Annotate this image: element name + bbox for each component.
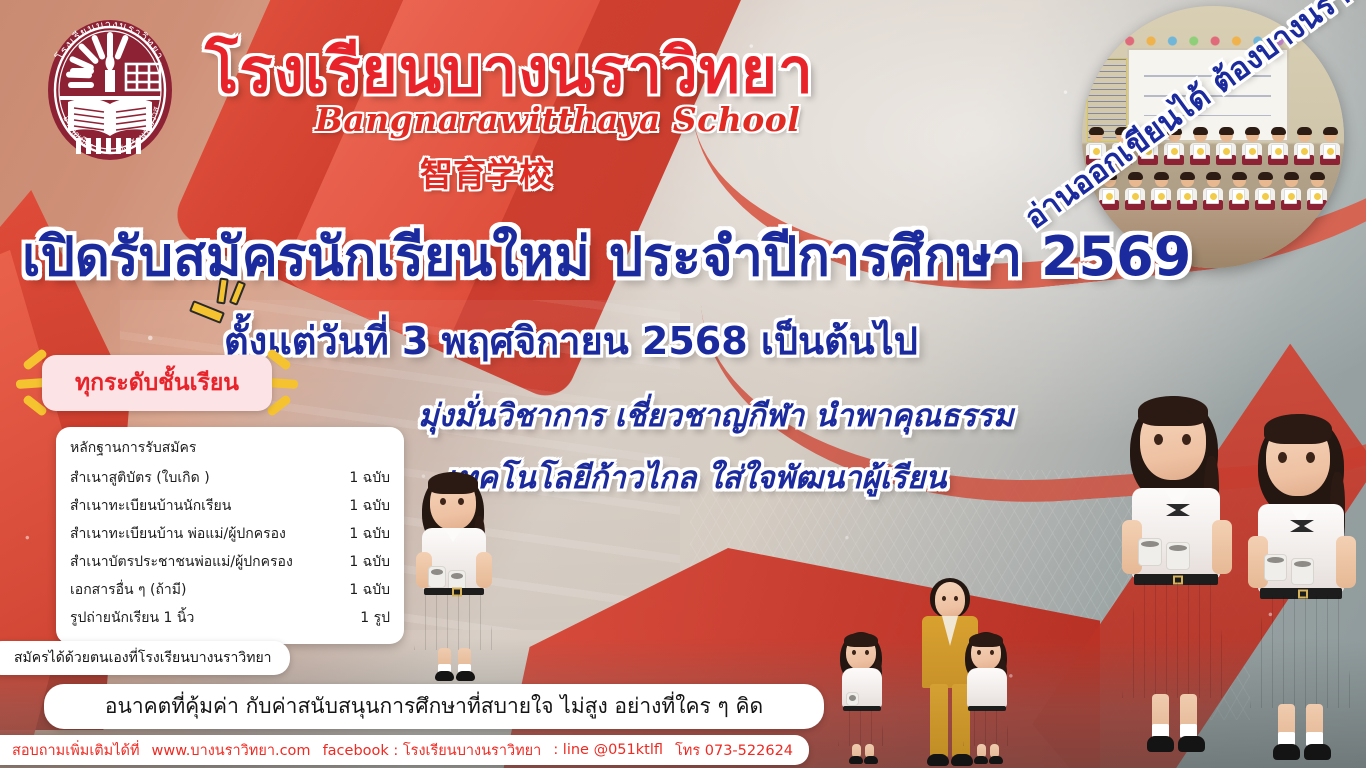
grade-levels-badge: ทุกระดับชั้นเรียน — [42, 355, 272, 411]
document-quantity: 1 ฉบับ — [349, 551, 390, 573]
apply-note-pill: สมัครได้ด้วยตนเองที่โรงเรียนบางนราวิทยา — [0, 641, 290, 675]
contact-bar: สอบถามเพิ่มเติมได้ที่ www.บางนราวิทยา.co… — [0, 735, 809, 765]
student-figure-right-a — [1108, 392, 1238, 768]
document-row: สำเนาสูติบัตร (ใบเกิด ) 1 ฉบับ — [70, 464, 390, 492]
photo-student — [1149, 174, 1173, 210]
photo-student — [1214, 129, 1238, 165]
badge-body: ทุกระดับชั้นเรียน — [42, 355, 272, 411]
apply-note-text: สมัครได้ด้วยตนเองที่โรงเรียนบางนราวิทยา — [14, 647, 272, 669]
school-name-english: Bangnarawitthaya School — [315, 100, 800, 139]
student-figure-right-small — [955, 632, 1017, 768]
photo-student — [1292, 129, 1316, 165]
student-figure-right-b — [1240, 410, 1366, 768]
contact-facebook[interactable]: facebook : โรงเรียนบางนราวิทยา — [323, 739, 542, 762]
documents-title: หลักฐานการรับสมัคร — [70, 437, 390, 459]
document-label: สำเนาทะเบียนบ้าน พ่อแม่/ผู้ปกครอง — [70, 523, 286, 545]
document-row: รูปถ่ายนักเรียน 1 นิ้ว 1 รูป — [70, 604, 390, 632]
student-figure-center — [400, 468, 510, 680]
photo-student — [1279, 174, 1303, 210]
photo-student — [1227, 174, 1251, 210]
photo-student — [1201, 174, 1225, 210]
school-logo: โรงเรียนบางนราวิทยา อำเภอเมือง จังหวัดนร… — [30, 8, 190, 168]
document-label: เอกสารอื่น ๆ (ถ้ามี) — [70, 579, 186, 601]
value-note-pill: อนาคตที่คุ้มค่า กับค่าสนับสนุนการศึกษาที… — [44, 684, 824, 729]
badge-label: ทุกระดับชั้นเรียน — [75, 365, 239, 401]
document-quantity: 1 ฉบับ — [349, 495, 390, 517]
document-label: สำเนาบัตรประชาชนพ่อแม่/ผู้ปกครอง — [70, 551, 293, 573]
photo-student — [1240, 129, 1264, 165]
photo-student — [1188, 129, 1212, 165]
contact-line[interactable]: : line @051ktlfl — [553, 742, 663, 758]
document-label: สำเนาสูติบัตร (ใบเกิด ) — [70, 467, 210, 489]
photo-student — [1266, 129, 1290, 165]
admission-date: ตั้งแต่วันที่ 3 พฤศจิกายน 2568 เป็นต้นไป — [224, 310, 918, 371]
admission-poster: โรงเรียนบางนราวิทยา อำเภอเมือง จังหวัดนร… — [0, 0, 1366, 768]
contact-prefix: สอบถามเพิ่มเติมได้ที่ — [12, 739, 140, 762]
value-note-text: อนาคตที่คุ้มค่า กับค่าสนับสนุนการศึกษาที… — [105, 690, 763, 723]
document-row: เอกสารอื่น ๆ (ถ้ามี) 1 ฉบับ — [70, 576, 390, 604]
document-quantity: 1 ฉบับ — [349, 467, 390, 489]
document-label: สำเนาทะเบียนบ้านนักเรียน — [70, 495, 231, 517]
photo-student — [1318, 129, 1342, 165]
document-quantity: 1 ฉบับ — [349, 579, 390, 601]
document-row: สำเนาบัตรประชาชนพ่อแม่/ผู้ปกครอง 1 ฉบับ — [70, 548, 390, 576]
document-quantity: 1 ฉบับ — [349, 523, 390, 545]
photo-student — [1253, 174, 1277, 210]
school-name-chinese: 智育学校 — [420, 148, 552, 196]
contact-phone[interactable]: โทร 073-522624 — [675, 739, 793, 762]
document-quantity: 1 รูป — [360, 607, 390, 629]
document-label: รูปถ่ายนักเรียน 1 นิ้ว — [70, 607, 194, 629]
photo-student — [1175, 174, 1199, 210]
required-documents-card: หลักฐานการรับสมัคร สำเนาสูติบัตร (ใบเกิด… — [56, 427, 404, 644]
document-row: สำเนาทะเบียนบ้าน พ่อแม่/ผู้ปกครอง 1 ฉบับ — [70, 520, 390, 548]
slogan-line-1: มุ่งมั่นวิชาการ เชี่ยวชาญกีฬา นำพาคุณธรร… — [418, 390, 1014, 440]
student-figure-left-small — [830, 632, 892, 768]
slogan-line-2: เทคโนโลยีก้าวไกล ใส่ใจพัฒนาผู้เรียน — [446, 452, 946, 502]
photo-student — [1305, 174, 1329, 210]
contact-website[interactable]: www.บางนราวิทยา.com — [152, 739, 311, 762]
document-row: สำเนาทะเบียนบ้านนักเรียน 1 ฉบับ — [70, 492, 390, 520]
